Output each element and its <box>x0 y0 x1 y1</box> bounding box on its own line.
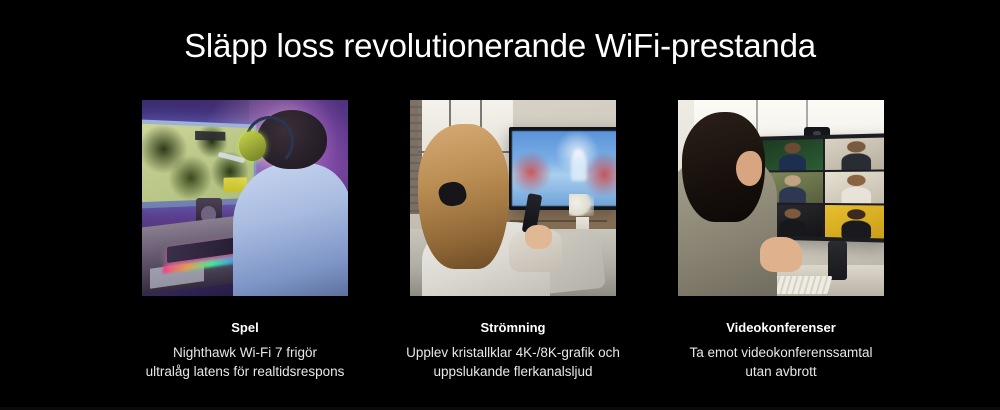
streaming-person-hand <box>525 225 552 249</box>
streaming-photo <box>410 100 616 296</box>
feature-title: Strömning <box>410 319 616 336</box>
gaming-screen-content <box>142 123 253 202</box>
participant-body <box>842 221 871 238</box>
conference-person-hands <box>760 237 801 272</box>
participant-head <box>784 176 801 186</box>
conference-monitor <box>759 133 884 242</box>
gaming-caption: Spel Nighthawk Wi-Fi 7 frigör ultralåg l… <box>142 319 348 381</box>
participant-head <box>848 142 866 153</box>
hero-banner: Släpp loss revolutionerande WiFi-prestan… <box>0 0 1000 410</box>
gaming-photo <box>142 100 348 296</box>
feature-description: Ta emot videokonferenssamtal utan avbrot… <box>661 343 901 381</box>
participant-head <box>848 209 866 220</box>
page-title: Släpp loss revolutionerande WiFi-prestan… <box>0 24 1000 68</box>
participant-body <box>779 220 807 237</box>
participant-tile <box>825 172 884 204</box>
participant-head <box>848 175 866 186</box>
video-conference-caption: Videokonferenser Ta emot videokonferenss… <box>678 319 884 381</box>
participant-tile <box>825 138 884 171</box>
gaming-screen-hud <box>195 130 225 140</box>
feature-description: Nighthawk Wi-Fi 7 frigör ultralåg latens… <box>125 343 365 381</box>
streaming-caption: Strömning Upplev kristallklar 4K-/8K-gra… <box>410 319 616 381</box>
participant-head <box>784 208 801 219</box>
streaming-television <box>509 127 616 209</box>
participant-body <box>842 188 871 205</box>
participant-body <box>842 154 871 171</box>
video-call-participant-grid <box>763 138 884 239</box>
feature-card-gaming: Spel Nighthawk Wi-Fi 7 frigör ultralåg l… <box>142 100 348 381</box>
gaming-person-body <box>233 163 348 296</box>
feature-card-streaming: Strömning Upplev kristallklar 4K-/8K-gra… <box>410 100 616 381</box>
participant-body <box>779 155 807 171</box>
feature-card-list: Spel Nighthawk Wi-Fi 7 frigör ultralåg l… <box>142 100 884 381</box>
gaming-room-background <box>142 100 348 296</box>
streaming-room-background <box>410 100 616 296</box>
feature-card-video-conference: Videokonferenser Ta emot videokonferenss… <box>678 100 884 381</box>
participant-tile <box>763 140 823 172</box>
streaming-tv-dome-shape <box>571 149 588 181</box>
conference-person-face <box>736 151 763 186</box>
participant-tile <box>825 206 884 239</box>
participant-head <box>784 143 801 154</box>
video-conference-photo <box>678 100 884 296</box>
feature-title: Videokonferenser <box>678 319 884 336</box>
feature-description: Upplev kristallklar 4K-/8K-grafik och up… <box>393 343 633 381</box>
feature-title: Spel <box>142 319 348 336</box>
gaming-headset-earcup <box>239 131 266 160</box>
participant-body <box>779 188 807 204</box>
conference-monitor-stand <box>828 241 847 280</box>
conference-room-background <box>678 100 884 296</box>
